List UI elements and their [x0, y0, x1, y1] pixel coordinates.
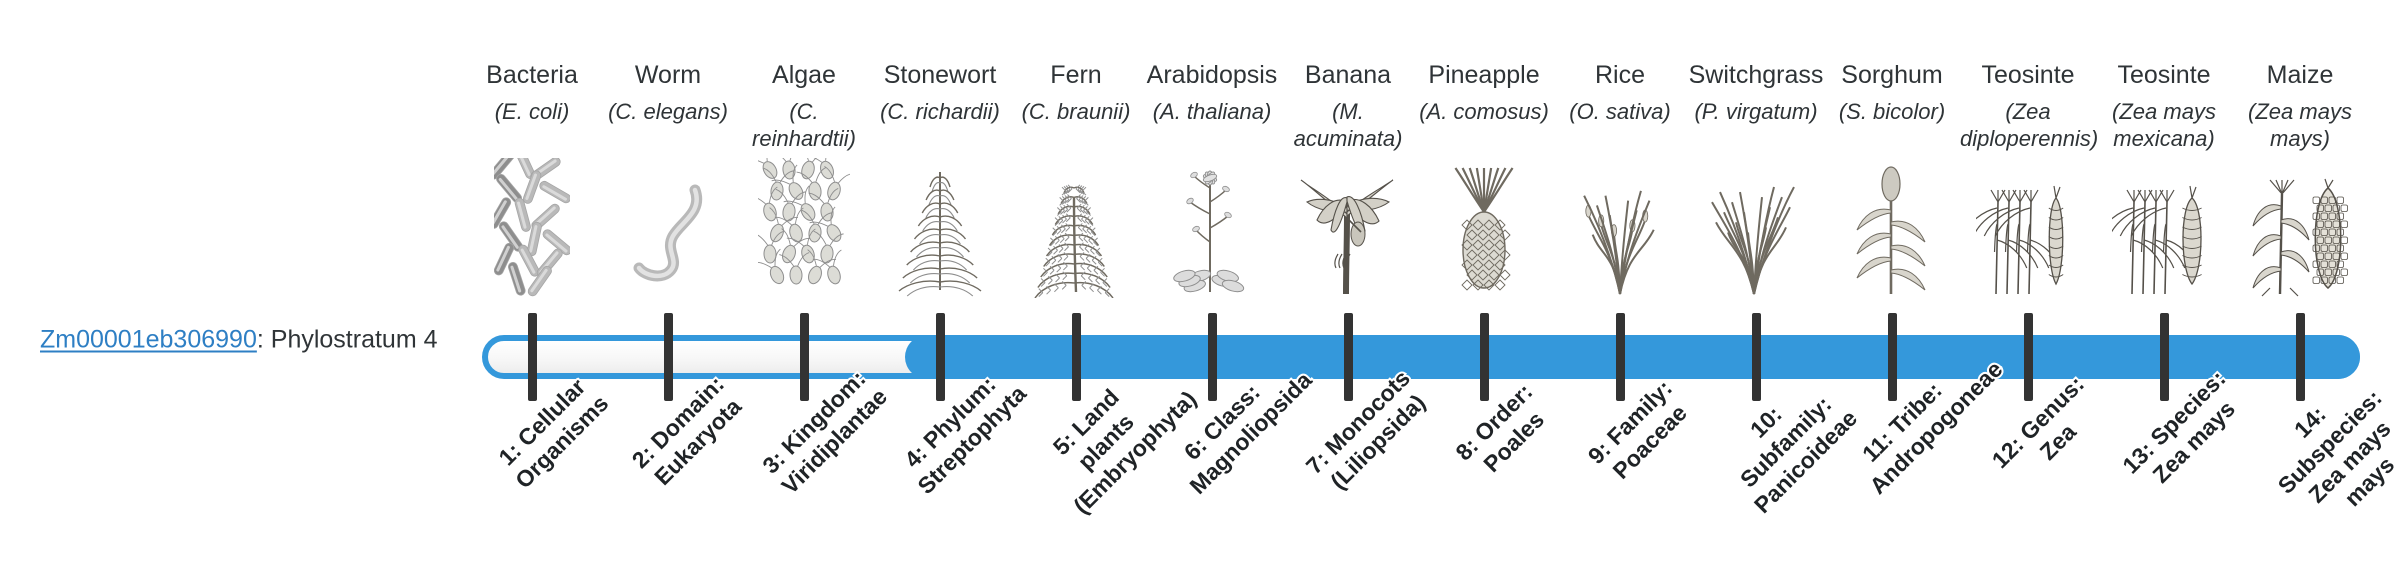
species-scientific-name: (C. richardii): [872, 98, 1008, 125]
tick-mark-3: [800, 313, 809, 401]
tick-mark-12: [2024, 313, 2033, 401]
green-algae-cells-icon: [736, 168, 872, 298]
teosinte-mexicana-plant-ear-icon: [2096, 168, 2232, 298]
maize-plant-ear-icon: [2232, 168, 2368, 298]
species-scientific-name: (Zea mays mays): [2232, 98, 2368, 152]
species-scientific-name: (C. braunii): [1008, 98, 1144, 125]
tick-mark-5: [1072, 313, 1081, 401]
species-scientific-name: (Zea mays mexicana): [2096, 98, 2232, 152]
species-common-name: Bacteria: [464, 60, 600, 90]
tick-mark-11: [1888, 313, 1897, 401]
species-common-name: Switchgrass: [1688, 60, 1824, 90]
species-common-name: Pineapple: [1416, 60, 1552, 90]
gene-phylostratum-label: Zm00001eb306990: Phylostratum 4: [40, 326, 438, 355]
species-scientific-name: (Zea diploperennis): [1960, 98, 2096, 152]
species-common-name: Sorghum: [1824, 60, 1960, 90]
species-common-name: Fern: [1008, 60, 1144, 90]
species-column-pineapple: Pineapple(A. comosus)8: Order: Poales: [1416, 0, 1552, 580]
species-common-name: Teosinte: [2096, 60, 2232, 90]
species-column-arabidopsis: Arabidopsis(A. thaliana) 6: Class: Magno…: [1144, 0, 1280, 580]
species-common-name: Stonewort: [872, 60, 1008, 90]
tick-mark-9: [1616, 313, 1625, 401]
pineapple-plant-icon: [1416, 168, 1552, 298]
species-common-name: Arabidopsis: [1144, 60, 1280, 90]
species-column-fern: Fern(C. braunii)5: Land plants (Embryoph…: [1008, 0, 1144, 580]
species-common-name: Rice: [1552, 60, 1688, 90]
tick-mark-1: [528, 313, 537, 401]
species-column-banana: Banana(M. acuminata)7: Monocots (Liliops…: [1280, 0, 1416, 580]
species-column-rice: Rice(O. sativa)9: Family: Poaceae: [1552, 0, 1688, 580]
stonewort-alga-icon: [872, 168, 1008, 298]
rank-label-14: 14: Subspecies: Zea mays mays: [2252, 364, 2400, 539]
species-column-sorghum: Sorghum(S. bicolor)11: Tribe: Andropogon…: [1824, 0, 1960, 580]
species-scientific-name: (C. reinhardtii): [736, 98, 872, 152]
sorghum-plant-icon: [1824, 168, 1960, 298]
species-scientific-name: (A. thaliana): [1144, 98, 1280, 125]
teosinte-plant-ear-icon: [1960, 168, 2096, 298]
tick-mark-6: [1208, 313, 1217, 401]
species-column-switchgrass: Switchgrass(P. virgatum)10: Subfamily: P…: [1688, 0, 1824, 580]
species-scientific-name: (P. virgatum): [1688, 98, 1824, 125]
species-common-name: Banana: [1280, 60, 1416, 90]
phylostratum-track-figure: Zm00001eb306990: Phylostratum 4 Bacteria…: [0, 0, 2400, 580]
species-common-name: Algae: [736, 60, 872, 90]
bacteria-rods-icon: [464, 168, 600, 298]
species-common-name: Teosinte: [1960, 60, 2096, 90]
gene-id-link[interactable]: Zm00001eb306990: [40, 326, 257, 354]
gene-label-separator: :: [257, 326, 271, 354]
species-column-teosinte: Teosinte(Zea diploperennis)12: Genus: Ze…: [1960, 0, 2096, 580]
species-scientific-name: (S. bicolor): [1824, 98, 1960, 125]
species-column-stonewort: Stonewort(C. richardii)4: Phylum: Strept…: [872, 0, 1008, 580]
tick-mark-4: [936, 313, 945, 401]
banana-plant-icon: [1280, 168, 1416, 298]
tick-mark-10: [1752, 313, 1761, 401]
tick-mark-13: [2160, 313, 2169, 401]
tick-mark-8: [1480, 313, 1489, 401]
species-common-name: Worm: [600, 60, 736, 90]
phylostratum-value: Phylostratum 4: [271, 326, 438, 354]
tick-mark-14: [2296, 313, 2305, 401]
species-scientific-name: (M. acuminata): [1280, 98, 1416, 152]
species-column-bacteria: Bacteria(E. coli): [464, 0, 600, 580]
species-column-maize: Maize(Zea mays mays)14: Subspecies: Zea …: [2232, 0, 2368, 580]
species-scientific-name: (A. comosus): [1416, 98, 1552, 125]
arabidopsis-plant-icon: [1144, 168, 1280, 298]
species-column-algae: Algae(C. reinhardtii): [736, 0, 872, 580]
tick-mark-2: [664, 313, 673, 401]
switchgrass-plant-icon: [1688, 168, 1824, 298]
species-column-teosinte: Teosinte(Zea mays mexicana)13: Species: …: [2096, 0, 2232, 580]
species-scientific-name: (C. elegans): [600, 98, 736, 125]
species-scientific-name: (E. coli): [464, 98, 600, 125]
rice-plant-icon: [1552, 168, 1688, 298]
species-scientific-name: (O. sativa): [1552, 98, 1688, 125]
species-column-worm: Worm(C. elegans) 2: Domain: Eukaryota: [600, 0, 736, 580]
tick-mark-7: [1344, 313, 1353, 401]
species-columns: Bacteria(E. coli): [464, 0, 2364, 580]
fern-frond-icon: [1008, 168, 1144, 298]
species-common-name: Maize: [2232, 60, 2368, 90]
nematode-worm-icon: [600, 168, 736, 298]
